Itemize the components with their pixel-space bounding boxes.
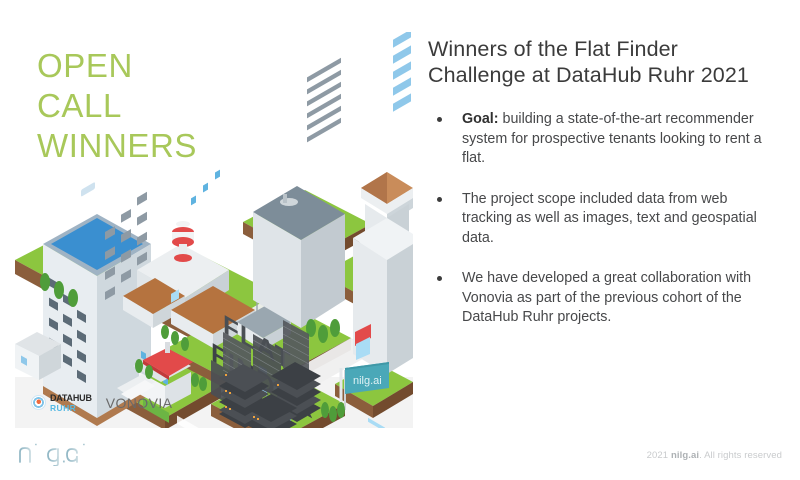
billboard-text: nilg.ai [353, 375, 382, 387]
copyright-year: 2021 [647, 450, 669, 461]
bullet-dot-icon [437, 197, 442, 202]
bullet-dot-icon [437, 117, 442, 122]
copyright-rest: . All rights reserved [699, 450, 782, 461]
datahub-mark-icon [31, 395, 46, 410]
bullet-text: The project scope included data from web… [462, 191, 757, 246]
list-item: We have developed a great collaboration … [428, 269, 776, 328]
illustration-panel: OPEN CALL WINNERS [15, 32, 413, 428]
bullet-text: We have developed a great collaboration … [462, 270, 751, 325]
bullet-list: Goal: building a state-of-the-art recomm… [428, 110, 776, 328]
datahub-word-bottom: RUHR [50, 404, 92, 413]
list-item: The project scope included data from web… [428, 190, 776, 249]
partner-logos: DATAHUB RUHR VONOVIA [31, 394, 172, 413]
slide: OPEN CALL WINNERS [0, 0, 800, 480]
isometric-city-illustration: FLAT FINDER [15, 32, 413, 428]
nilgai-logo [17, 440, 95, 466]
datahub-ruhr-logo: DATAHUB RUHR [31, 394, 92, 413]
vonovia-logo: VONOVIA [106, 395, 173, 411]
datahub-wordmark: DATAHUB RUHR [50, 394, 92, 413]
datahub-word-top: DATAHUB [50, 394, 92, 403]
bullet-dot-icon [437, 276, 442, 281]
page-title: Winners of the Flat Finder Challenge at … [428, 36, 776, 88]
copyright: 2021 nilg.ai. All rights reserved [647, 450, 782, 461]
bullet-text: building a state-of-the-art recommender … [462, 111, 762, 166]
bullet-lead: Goal: [462, 111, 499, 127]
list-item: Goal: building a state-of-the-art recomm… [428, 110, 776, 169]
slide-content: Winners of the Flat Finder Challenge at … [428, 36, 776, 349]
copyright-brand: nilg.ai [671, 450, 699, 461]
